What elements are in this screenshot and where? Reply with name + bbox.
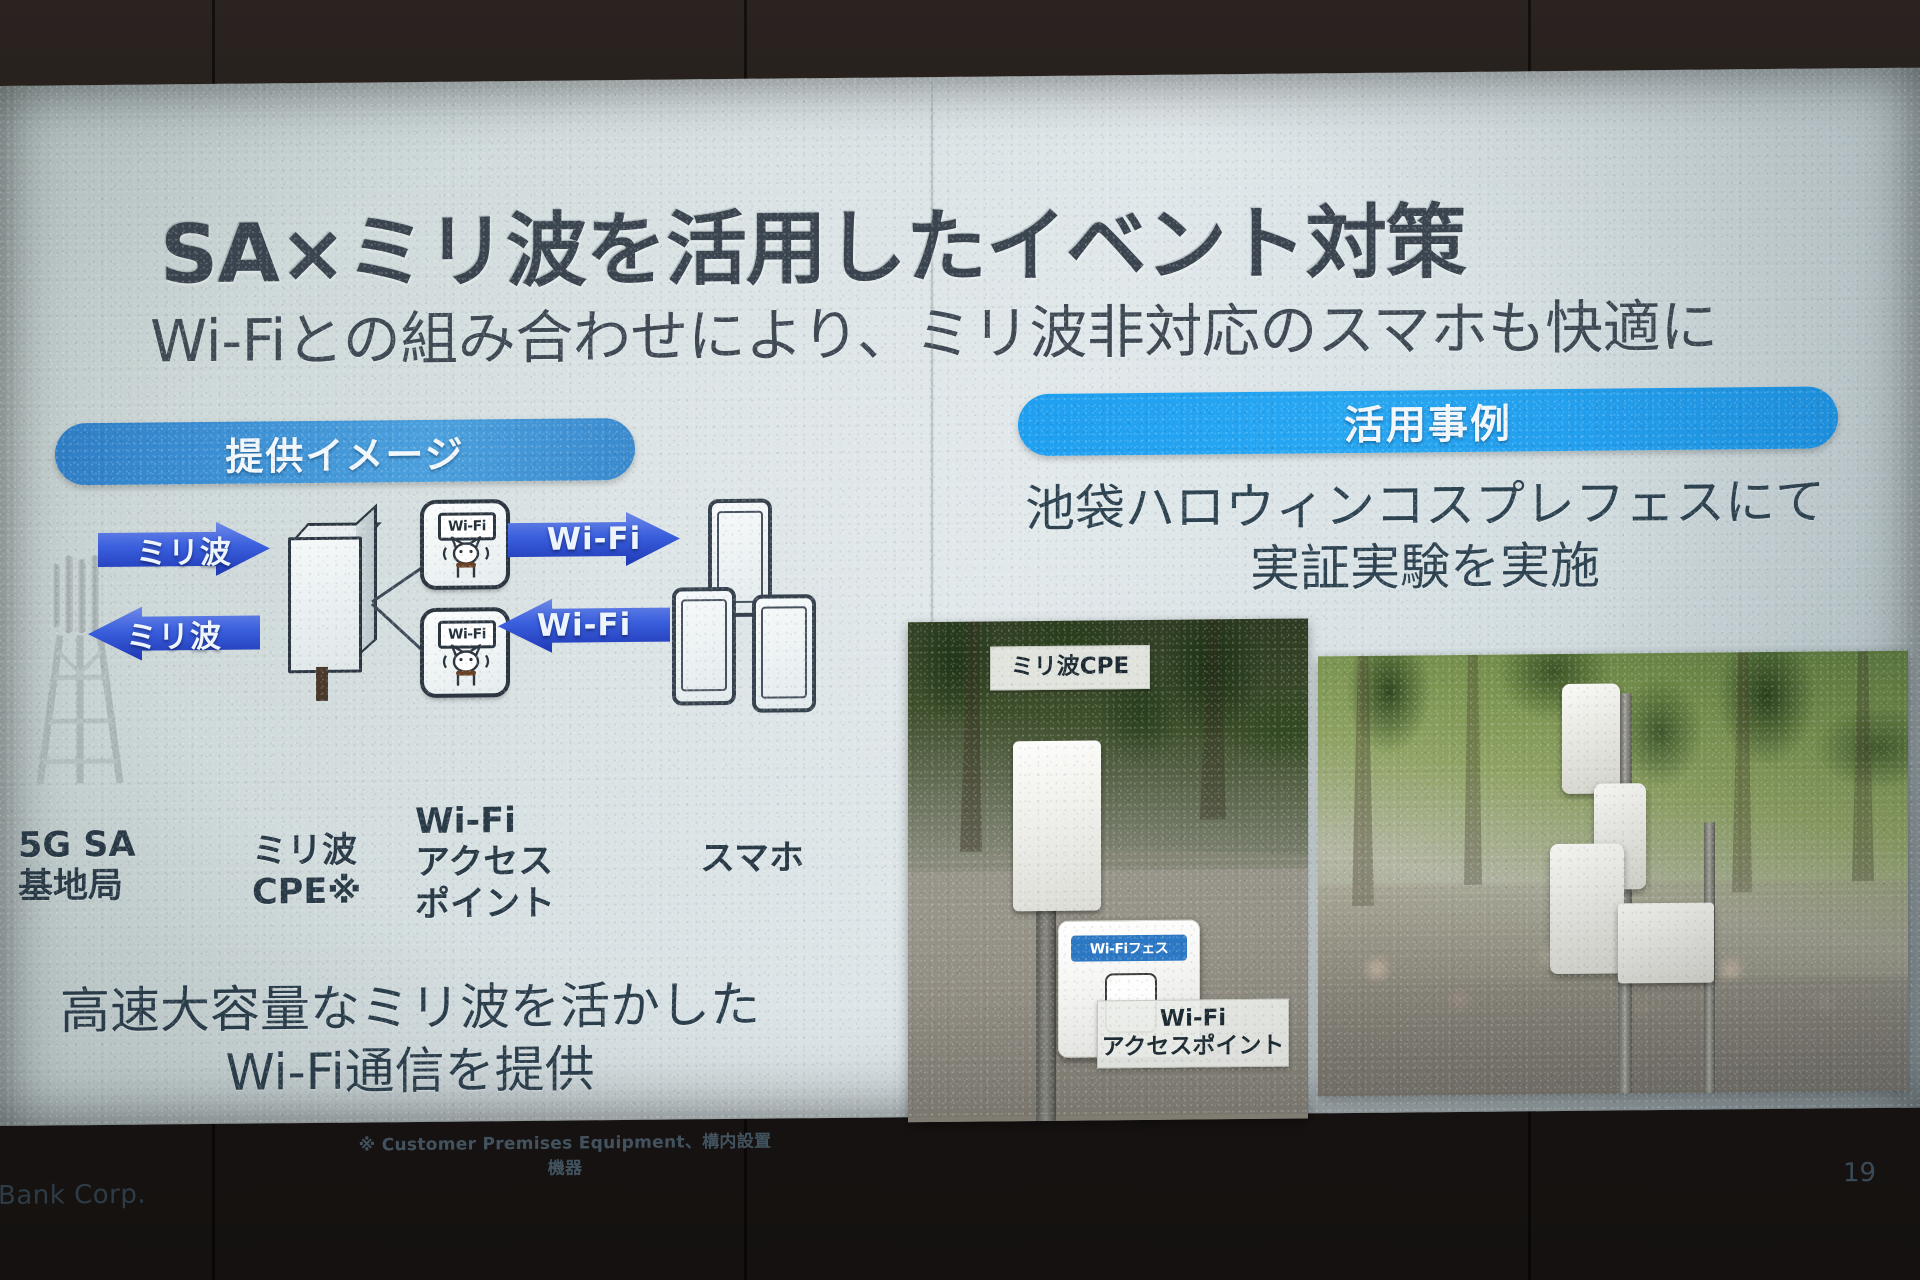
label-wifi-access-point: Wi-Fi アクセス ポイント <box>415 801 555 926</box>
use-case-line-2: 実証実験を実施 <box>960 532 1890 603</box>
device-logo: Wi-Fiフェス <box>1071 935 1187 962</box>
photo-device-mmwave-cpe <box>1013 740 1101 911</box>
smartphone-icon-2 <box>672 587 736 706</box>
caption-ap-l1: Wi-Fi <box>1102 1005 1285 1034</box>
footnote-cpe: ※ Customer Premises Equipment、構内設置機器 <box>355 1127 775 1181</box>
label-smartphone: スマホ <box>700 838 804 880</box>
left-summary-text: 高速大容量なミリ波を活かした Wi-Fi通信を提供 <box>60 974 760 1107</box>
label-base-station-l2: 基地局 <box>18 866 136 908</box>
section-pill-provision-image: 提供イメージ <box>55 418 635 486</box>
arrow-label-mmwave-2: ミリ波 <box>126 610 222 656</box>
smartphone-icon-3 <box>752 594 816 713</box>
page-number: 19 <box>1843 1158 1876 1188</box>
arrow-mmwave-uplink: ミリ波 <box>88 606 260 662</box>
photo-mounting-pole <box>1036 911 1056 1121</box>
section-pill-use-case: 活用事例 <box>1018 386 1838 456</box>
label-ap-l1: Wi-Fi <box>415 801 555 844</box>
summary-line-1: 高速大容量なミリ波を活かした <box>60 974 760 1044</box>
photo-panel-upper <box>1562 683 1620 794</box>
label-mmwave-cpe: ミリ波 CPE※ <box>252 831 361 915</box>
use-case-description: 池袋ハロウィンコスプレフェスにて 実証実験を実施 <box>960 470 1890 603</box>
summary-line-2: Wi-Fi通信を提供 <box>60 1037 760 1107</box>
link-cpe-ap1 <box>371 566 424 604</box>
pill-right-label: 活用事例 <box>1344 391 1512 451</box>
label-cpe-l2: CPE※ <box>252 872 361 914</box>
projected-slide: SA×ミリ波を活用したイベント対策 Wi-Fiとの組み合わせにより、ミリ波非対応… <box>0 68 1920 1126</box>
base-station-tower-icon <box>30 555 130 786</box>
photo-event-crowd <box>1318 651 1908 1097</box>
arrow-wifi-uplink: Wi-Fi <box>498 598 670 654</box>
arrow-wifi-downlink: Wi-Fi <box>508 511 680 567</box>
label-ap-l2: アクセス <box>415 842 555 885</box>
corporate-mark: Bank Corp. <box>0 1180 146 1211</box>
arrow-label-mmwave-1: ミリ波 <box>136 526 232 572</box>
room-scene: SA×ミリ波を活用したイベント対策 Wi-Fiとの組み合わせにより、ミリ波非対応… <box>0 0 1920 1280</box>
label-base-station: 5G SA 基地局 <box>18 825 136 909</box>
photo-panel-side <box>1618 903 1714 984</box>
photo-panel-lower <box>1550 843 1624 974</box>
photo-caption-mmwave-cpe: ミリ波CPE <box>990 645 1150 691</box>
arrow-label-wifi-1: Wi-Fi <box>547 521 642 558</box>
use-case-line-1: 池袋ハロウィンコスプレフェスにて <box>960 470 1890 541</box>
link-cpe-ap2 <box>371 603 423 651</box>
wifi-access-point-icon-1: Wi-Fi <box>420 499 510 590</box>
page-subtitle: Wi-Fiとの組み合わせにより、ミリ波非対応のスマホも快適に <box>150 279 1770 379</box>
arrow-mmwave-downlink: ミリ波 <box>98 521 270 577</box>
label-ap-l3: ポイント <box>415 883 555 926</box>
arrow-label-wifi-2: Wi-Fi <box>537 607 632 644</box>
photo-caption-wifi-ap: Wi-Fi アクセスポイント <box>1097 999 1289 1069</box>
caption-ap-l2: アクセスポイント <box>1102 1033 1285 1062</box>
pill-left-label: 提供イメージ <box>225 423 464 480</box>
wifi-access-point-icon-2: Wi-Fi <box>420 607 510 698</box>
mmwave-cpe-icon <box>288 522 374 671</box>
label-base-station-l1: 5G SA <box>18 825 136 867</box>
label-cpe-l1: ミリ波 <box>252 831 361 873</box>
